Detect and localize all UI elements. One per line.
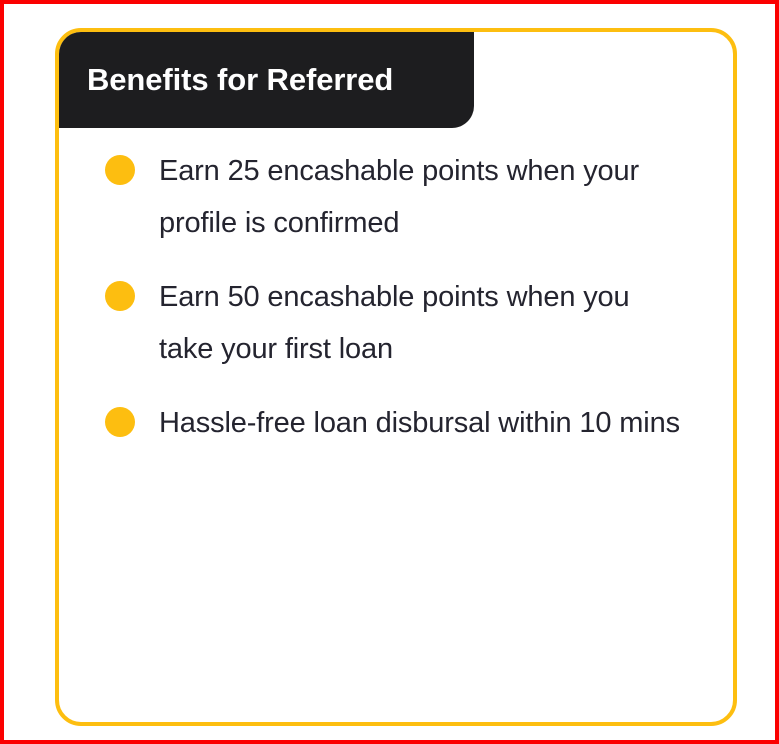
card-header: Benefits for Referred bbox=[59, 32, 474, 128]
benefits-list: Earn 25 encashable points when your prof… bbox=[105, 145, 713, 449]
list-item: Earn 50 encashable points when you take … bbox=[105, 271, 713, 375]
bullet-dot-icon bbox=[105, 281, 135, 311]
page-title: Benefits for Referred bbox=[87, 62, 393, 98]
benefit-text: Earn 25 encashable points when your prof… bbox=[159, 145, 689, 249]
list-item: Hassle-free loan disbursal within 10 min… bbox=[105, 397, 713, 449]
bullet-dot-icon bbox=[105, 155, 135, 185]
bullet-dot-icon bbox=[105, 407, 135, 437]
benefit-text: Hassle-free loan disbursal within 10 min… bbox=[159, 397, 680, 449]
list-item: Earn 25 encashable points when your prof… bbox=[105, 145, 713, 249]
benefit-text: Earn 50 encashable points when you take … bbox=[159, 271, 689, 375]
screenshot-frame: Benefits for Referred Earn 25 encashable… bbox=[0, 0, 779, 744]
benefits-card: Benefits for Referred Earn 25 encashable… bbox=[55, 28, 737, 726]
